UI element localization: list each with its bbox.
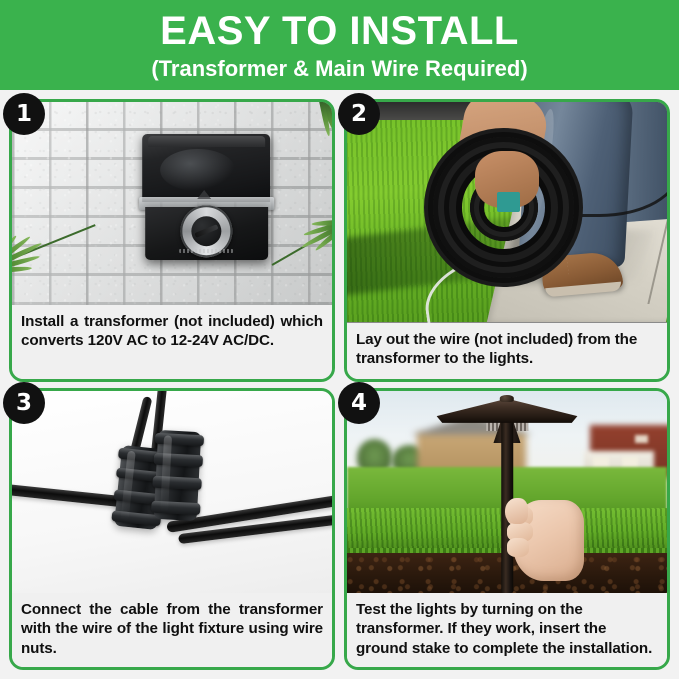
step-card-2-inner: Lay out the wire (not included) from the… — [347, 102, 667, 379]
connector-rib — [154, 453, 203, 467]
step-badge-3: 3 — [3, 382, 45, 424]
wire-connector-b — [154, 430, 202, 521]
hand-thumb — [505, 498, 527, 524]
step-3-photo — [12, 391, 332, 594]
hand-finger — [507, 538, 529, 556]
connector-rib — [155, 432, 204, 446]
connector-highlight — [120, 451, 135, 521]
step-1-photo — [12, 102, 332, 305]
step-card-3: 3 — [9, 388, 335, 671]
step-card-4-inner: Test the lights by turning on the transf… — [347, 391, 667, 668]
step-card-3-inner: Connect the cable from the transformer w… — [12, 391, 332, 668]
page-title: EASY TO INSTALL — [160, 11, 519, 51]
step-caption-2: Lay out the wire (not included) from the… — [347, 323, 667, 379]
step-caption-3: Connect the cable from the transformer w… — [12, 593, 332, 667]
header-banner: EASY TO INSTALL (Transformer & Main Wire… — [0, 0, 679, 90]
step-badge-2: 2 — [338, 93, 380, 135]
step-4-photo — [347, 391, 667, 594]
step-badge-4: 4 — [338, 382, 380, 424]
step-caption-4: Test the lights by turning on the transf… — [347, 593, 667, 667]
step-card-1: 1 — [9, 99, 335, 382]
step-badge-1: 1 — [3, 93, 45, 135]
connector-rib — [153, 476, 202, 490]
transformer-label-strip — [180, 249, 234, 253]
step-card-4: 4 — [344, 388, 670, 671]
background-window — [635, 435, 648, 443]
steps-grid: 1 — [0, 90, 679, 679]
step-card-1-inner: Install a transformer (not included) whi… — [12, 102, 332, 379]
wire-coil-tag — [497, 192, 519, 212]
step-card-2: 2 Lay out t — [344, 99, 670, 382]
light-finial-icon — [500, 395, 514, 401]
step-2-photo — [347, 102, 667, 323]
transformer-body — [145, 207, 268, 260]
page-subtitle: (Transformer & Main Wire Required) — [151, 58, 527, 80]
transformer-unit — [143, 134, 271, 260]
connector-rib — [151, 501, 200, 515]
step-caption-1: Install a transformer (not included) whi… — [12, 305, 332, 379]
